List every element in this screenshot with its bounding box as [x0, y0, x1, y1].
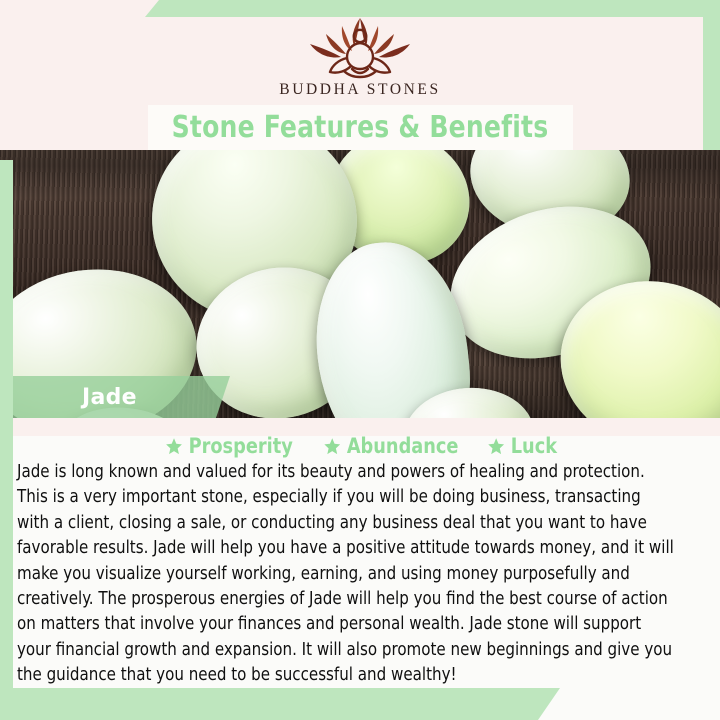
benefits-row: Prosperity Abundance Luck [0, 430, 720, 462]
benefit-label: Abundance [347, 434, 459, 458]
benefit-item: Luck [487, 434, 557, 458]
star-icon [165, 437, 183, 456]
benefit-label: Luck [510, 434, 556, 458]
brand-name: BUDDHA STONES [279, 81, 440, 99]
page-title: Stone Features & Benefits [25, 105, 695, 150]
stone-name-banner: Jade [13, 376, 230, 418]
lotus-meditation-icon [296, 14, 424, 80]
stone-name-label: Jade [82, 385, 137, 410]
decorative-frame-bottom [0, 688, 560, 720]
benefit-item: Prosperity [165, 434, 293, 458]
benefit-label: Prosperity [189, 434, 293, 458]
stone-description: Jade is long known and valued for its be… [17, 460, 677, 689]
star-icon [323, 437, 341, 456]
benefit-item: Abundance [323, 434, 458, 458]
brand-logo: BUDDHA STONES [0, 14, 720, 106]
stone-info-card: BUDDHA STONES Stone Features & Benefits … [0, 0, 720, 720]
star-icon [487, 437, 505, 456]
